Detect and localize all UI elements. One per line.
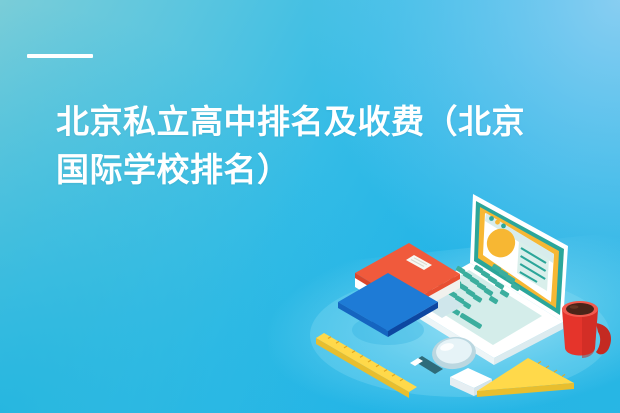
mug-coffee	[566, 303, 594, 315]
illustration-education-desk	[310, 185, 620, 413]
page-title: 北京私立高中排名及收费（北京 国际学校排名）	[56, 98, 576, 194]
coffee-mug	[562, 301, 611, 358]
browser-dot-3	[501, 224, 506, 229]
banner: 北京私立高中排名及收费（北京 国际学校排名）	[0, 0, 620, 413]
browser-dot-2	[495, 220, 500, 225]
decorative-rule	[27, 54, 93, 58]
browser-dot-1	[489, 216, 494, 221]
mug-coffee-glint	[570, 305, 579, 308]
title-line-1: 北京私立高中排名及收费（北京	[56, 98, 576, 146]
